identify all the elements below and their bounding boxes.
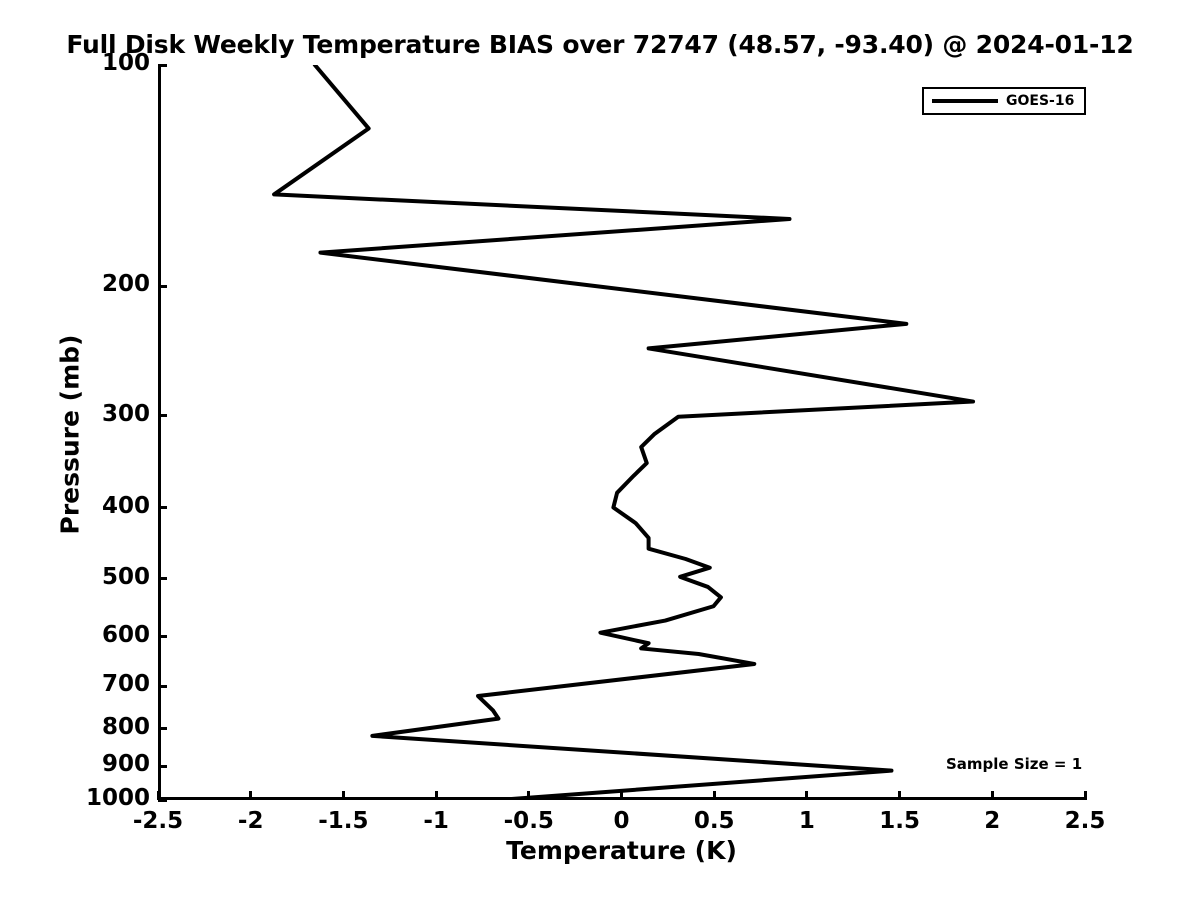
y-tick-label: 600 — [38, 622, 150, 648]
x-tick-label: 2.5 — [1035, 808, 1135, 834]
sample-size-annotation: Sample Size = 1 — [946, 755, 1082, 773]
y-tick-label: 900 — [38, 751, 150, 777]
x-axis-label: Temperature (K) — [158, 836, 1085, 865]
y-tick-label: 200 — [38, 271, 150, 297]
plot-area — [158, 65, 1085, 800]
y-tick-label: 500 — [38, 564, 150, 590]
data-series-svg — [161, 65, 1088, 800]
x-tick-label: 1 — [757, 808, 857, 834]
y-tick-label: 700 — [38, 671, 150, 697]
series-line-goes-16 — [274, 65, 973, 800]
y-axis-label: Pressure (mb) — [56, 305, 85, 565]
chart-title: Full Disk Weekly Temperature BIAS over 7… — [0, 30, 1200, 59]
x-tick-label: -2 — [201, 808, 301, 834]
chart-figure: Full Disk Weekly Temperature BIAS over 7… — [0, 0, 1200, 900]
x-tick-label: -2.5 — [108, 808, 208, 834]
y-tick-label: 800 — [38, 714, 150, 740]
x-tick-label: 0 — [572, 808, 672, 834]
legend-line-swatch — [932, 99, 998, 103]
x-tick-label: -1.5 — [293, 808, 393, 834]
legend-label-goes-16: GOES-16 — [1006, 93, 1074, 109]
y-tick-label: 100 — [38, 50, 150, 76]
x-tick-label: 1.5 — [850, 808, 950, 834]
chart-legend: GOES-16 — [922, 87, 1086, 115]
x-tick-label: -0.5 — [479, 808, 579, 834]
x-tick-label: -1 — [386, 808, 486, 834]
y-tick-label: 400 — [38, 493, 150, 519]
y-tick-label: 300 — [38, 401, 150, 427]
x-tick-label: 2 — [942, 808, 1042, 834]
x-tick-label: 0.5 — [664, 808, 764, 834]
